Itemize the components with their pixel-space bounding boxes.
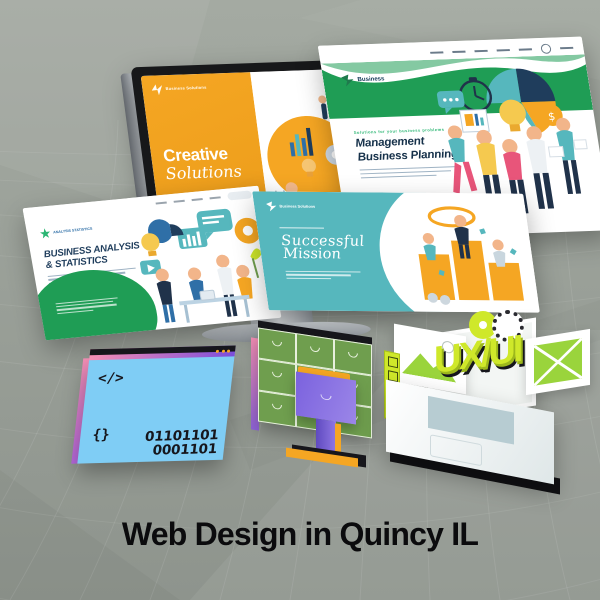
open-drawer[interactable] (296, 372, 356, 425)
mission-heading: Successful Mission (280, 233, 367, 262)
nav-dash-2[interactable] (174, 200, 185, 203)
wireframe-panel (526, 329, 590, 395)
mission-paragraph (286, 271, 362, 282)
code-tag-icon: </> (97, 370, 124, 387)
trackpad (430, 434, 482, 466)
brand-mark-icon (266, 201, 278, 211)
window-dot-1[interactable] (216, 350, 219, 353)
mission-logo: Business Solutions (266, 201, 316, 211)
curly-brace-icon: {} (92, 427, 111, 443)
person-third (491, 239, 507, 266)
nav-dash-1[interactable] (430, 51, 443, 53)
drawer-cell (258, 390, 296, 427)
blob-text-lines (56, 297, 120, 316)
window-body: </> {} 01101101 0001101 (77, 354, 234, 463)
code-browser-window: </> {} 01101101 0001101 (77, 354, 234, 463)
brand-mark-icon (151, 84, 163, 95)
mgmt-logo: Business (341, 73, 386, 86)
person-man-standing (215, 254, 240, 317)
pointer-icon[interactable] (388, 356, 398, 368)
document-icon (460, 109, 490, 132)
uxui-laptop-scene: UX/UI (376, 312, 582, 482)
file-cabinet-monitor (248, 332, 372, 468)
person-1 (443, 125, 478, 194)
window-dot-2[interactable] (221, 350, 224, 353)
nav-dash-3[interactable] (192, 198, 203, 201)
nav-dash-1[interactable] (156, 202, 167, 205)
nav-dash-4[interactable] (497, 49, 510, 51)
page-title-text: Web Design in Quincy IL (122, 516, 478, 552)
analysis-logo: ANALYSIS STATISTICS (39, 224, 93, 239)
page-title: Web Design in Quincy IL (0, 516, 600, 553)
binary-text: 01101101 0001101 (143, 428, 220, 458)
bar-chart-icon (288, 128, 314, 157)
brand-mark-icon (341, 74, 355, 86)
nav-dash-3[interactable] (474, 50, 487, 52)
lightbulb-icon (301, 159, 317, 177)
successful-mission-card: Business Solutions Successful Mission (252, 191, 540, 312)
mgmt-logo-label: Business (357, 76, 385, 83)
creative-heading-line2: Solutions (164, 162, 243, 183)
menu-icon[interactable] (560, 47, 573, 49)
mission-illustration (404, 193, 540, 313)
nav-dash-4[interactable] (210, 197, 221, 200)
person-4 (524, 126, 555, 209)
search-icon[interactable] (540, 44, 552, 54)
target-icon (428, 208, 475, 226)
search-pill[interactable] (227, 190, 252, 200)
mission-logo-label: Business Solutions (279, 204, 315, 209)
nav-dash-5[interactable] (519, 48, 532, 50)
creative-logo-label: Business Solutions (165, 86, 206, 92)
analysis-logo-label: ANALYSIS STATISTICS (53, 227, 93, 235)
window-controls[interactable] (216, 350, 230, 353)
wireframe-icon (534, 338, 582, 386)
person-orange-seated (235, 264, 255, 299)
nav-dash-2[interactable] (452, 51, 465, 53)
creative-heading: Creative Solutions (162, 144, 243, 183)
person-woman-left (154, 268, 177, 323)
foot-accent (286, 448, 358, 468)
brand-mark-icon (39, 228, 51, 239)
creative-logo: Business Solutions (151, 83, 207, 96)
binary-line-2: 0001101 (143, 442, 218, 458)
poster-canvas: Business Solutions Creative Solutions Di… (0, 0, 600, 600)
business-analysis-card: ANALYSIS STATISTICS BUSINESS ANALYSIS & … (23, 186, 282, 341)
window-dot-3[interactable] (227, 350, 230, 353)
analysis-illustration (130, 204, 277, 327)
